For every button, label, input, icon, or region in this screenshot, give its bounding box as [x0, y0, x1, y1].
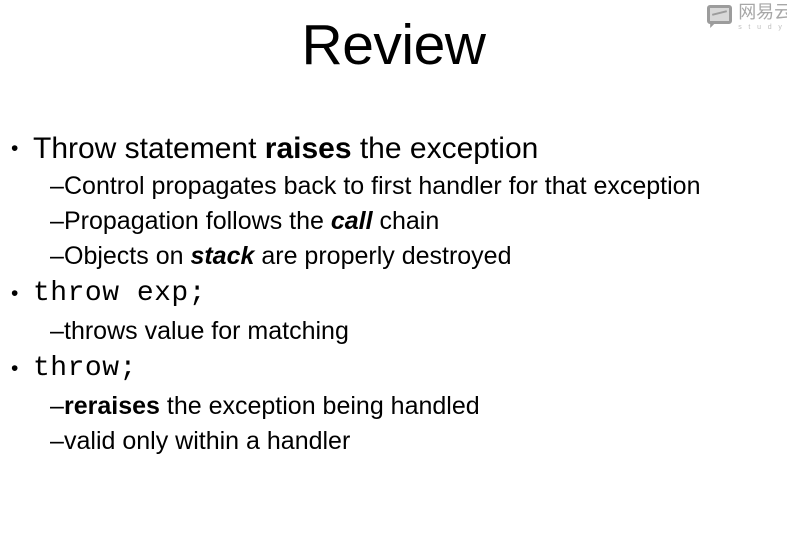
bullet-item-level1: •throw exp; [0, 274, 787, 313]
bullet-text: Propagation follows the call chain [64, 205, 719, 238]
text-segment: throw exp; [33, 278, 206, 309]
bullet-marker-dash: – [50, 315, 64, 348]
text-segment: the exception [352, 132, 539, 165]
bullet-item-level2: –valid only within a handler [0, 425, 787, 458]
bullet-item-level2: –Propagation follows the call chain [0, 205, 787, 238]
text-segment: call [331, 207, 373, 235]
text-segment: are properly destroyed [254, 242, 511, 270]
bullet-marker-dash: – [50, 390, 64, 423]
text-segment: throw; [33, 353, 137, 384]
bullet-item-level2: –Control propagates back to first handle… [0, 170, 787, 203]
text-segment: reraises [64, 392, 160, 420]
text-segment: Control propagates back to first handler… [64, 172, 700, 200]
bullet-item-level1: •Throw statement raises the exception [0, 129, 787, 168]
bullet-marker-dot: • [11, 274, 33, 313]
bullet-text: Throw statement raises the exception [33, 129, 787, 168]
slide-body-content: •Throw statement raises the exception–Co… [0, 128, 787, 458]
text-segment: stack [190, 242, 254, 270]
slide-title: Review [0, 8, 787, 82]
text-segment: Propagation follows the [64, 207, 331, 235]
text-segment: Throw statement [33, 132, 265, 165]
bullet-item-level2: –throws value for matching [0, 315, 787, 348]
bullet-item-level2: –Objects on stack are properly destroyed [0, 240, 787, 273]
text-segment: Objects on [64, 242, 190, 270]
bullet-text: throw; [33, 349, 787, 388]
bullet-text: Objects on stack are properly destroyed [64, 240, 719, 273]
bullet-text: reraises the exception being handled [64, 390, 719, 423]
text-segment: the exception being handled [160, 392, 480, 420]
bullet-marker-dot: • [11, 349, 33, 388]
text-segment: raises [265, 132, 352, 165]
bullet-marker-dash: – [50, 425, 64, 458]
bullet-marker-dash: – [50, 205, 64, 238]
text-segment: throws value for matching [64, 317, 349, 345]
text-segment: chain [373, 207, 440, 235]
bullet-item-level1: •throw; [0, 349, 787, 388]
bullet-marker-dot: • [11, 129, 33, 168]
bullet-item-level2: –reraises the exception being handled [0, 390, 787, 423]
bullet-text: valid only within a handler [64, 425, 719, 458]
bullet-text: Control propagates back to first handler… [64, 170, 719, 203]
bullet-marker-dash: – [50, 170, 64, 203]
bullet-marker-dash: – [50, 240, 64, 273]
bullet-text: throw exp; [33, 274, 787, 313]
text-segment: valid only within a handler [64, 427, 350, 455]
bullet-text: throws value for matching [64, 315, 719, 348]
